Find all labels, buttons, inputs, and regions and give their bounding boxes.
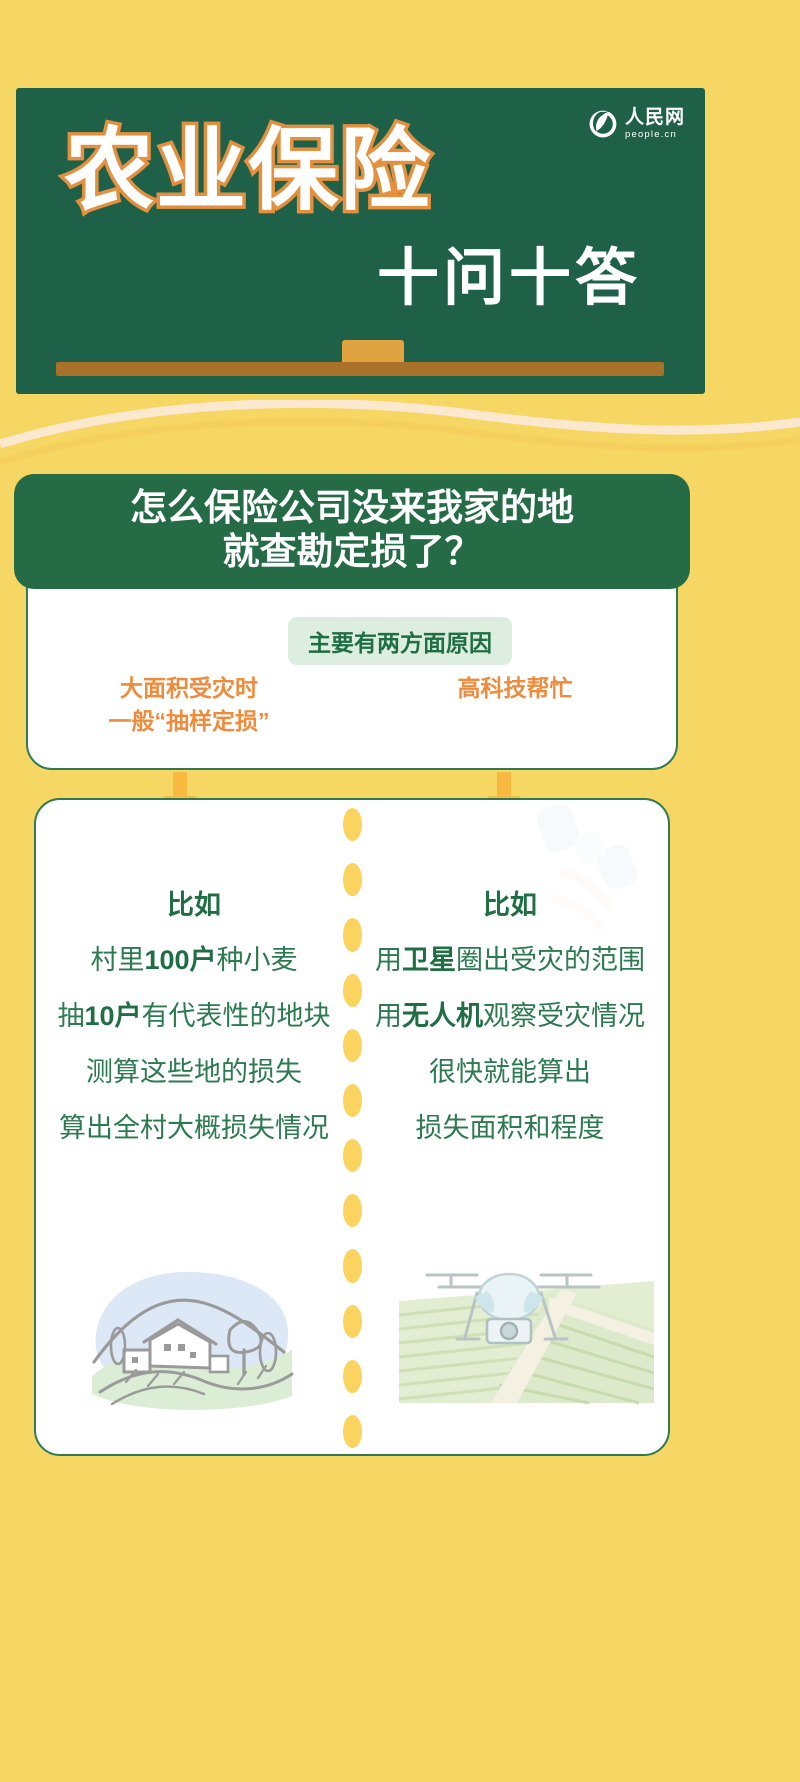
reason-1-line-2: 一般“抽样定损” bbox=[26, 705, 352, 738]
logo-text-cn: 人民网 bbox=[625, 108, 685, 127]
example-label-left: 比如 bbox=[36, 892, 352, 919]
answer-line-right-3: 很快就能算出 bbox=[352, 1059, 668, 1086]
chalk-tray bbox=[56, 362, 664, 376]
infographic-page: 人民网 people.cn 农业保险 十问十答 怎么保险公司没来我家的地 就查勘… bbox=[0, 0, 800, 1782]
answer-keyword: 卫星 bbox=[402, 945, 456, 975]
page-title: 农业保险 bbox=[64, 126, 432, 216]
page-subtitle: 十问十答 bbox=[377, 248, 641, 310]
answer-keyword: 无人机 bbox=[402, 1001, 483, 1031]
answer-line-left-3: 测算这些地的损失 bbox=[36, 1059, 352, 1086]
answer-line-right-2: 用无人机观察受灾情况 bbox=[352, 1003, 668, 1030]
village-farmland-illustration bbox=[78, 1258, 308, 1428]
answer-text: 损失面积和程度 bbox=[416, 1113, 605, 1143]
answer-text: 有代表性的地块 bbox=[142, 1001, 331, 1031]
answer-card: 比如 村里100户种小麦 抽10户有代表性的地块 测算这些地的损失 算出全村大概… bbox=[34, 798, 670, 1456]
answer-text: 用 bbox=[375, 945, 402, 975]
answer-text: 种小麦 bbox=[217, 945, 298, 975]
reason-columns: 大面积受灾时 一般“抽样定损” 高科技帮忙 bbox=[26, 672, 678, 737]
answer-column-technology: 比如 用卫星圈出受灾的范围 用无人机观察受灾情况 很快就能算出 损失面积和程度 bbox=[352, 800, 668, 1454]
answer-text: 用 bbox=[375, 1001, 402, 1031]
answer-text: 观察受灾情况 bbox=[483, 1001, 645, 1031]
reason-pill: 主要有两方面原因 bbox=[288, 617, 512, 665]
answer-columns: 比如 村里100户种小麦 抽10户有代表性的地块 测算这些地的损失 算出全村大概… bbox=[36, 800, 668, 1454]
people-daily-globe-icon bbox=[588, 109, 618, 139]
question-banner: 怎么保险公司没来我家的地 就查勘定损了？ bbox=[14, 474, 690, 589]
reason-column-technology: 高科技帮忙 bbox=[352, 672, 678, 737]
example-label-right: 比如 bbox=[352, 892, 668, 919]
header-blackboard: 人民网 people.cn 农业保险 十问十答 bbox=[16, 88, 705, 394]
reason-1-line-1: 大面积受灾时 bbox=[26, 672, 352, 705]
answer-text: 圈出受灾的范围 bbox=[456, 945, 645, 975]
answer-line-left-4: 算出全村大概损失情况 bbox=[36, 1115, 352, 1142]
answer-line-left-1: 村里100户种小麦 bbox=[36, 947, 352, 974]
question-line-1: 怎么保险公司没来我家的地 bbox=[22, 486, 682, 530]
answer-text: 算出全村大概损失情况 bbox=[59, 1113, 329, 1143]
question-line-2: 就查勘定损了？ bbox=[22, 530, 682, 574]
chalk-block bbox=[342, 340, 404, 362]
answer-line-left-2: 抽10户有代表性的地块 bbox=[36, 1003, 352, 1030]
answer-text: 很快就能算出 bbox=[429, 1057, 591, 1087]
answer-column-sampling: 比如 村里100户种小麦 抽10户有代表性的地块 测算这些地的损失 算出全村大概… bbox=[36, 800, 352, 1454]
answer-text: 抽 bbox=[57, 1001, 84, 1031]
logo-text-en: people.cn bbox=[625, 130, 685, 140]
answer-text: 测算这些地的损失 bbox=[86, 1057, 302, 1087]
site-logo[interactable]: 人民网 people.cn bbox=[588, 108, 685, 140]
answer-text: 村里 bbox=[90, 945, 144, 975]
answer-line-right-4: 损失面积和程度 bbox=[352, 1115, 668, 1142]
answer-keyword: 100户 bbox=[144, 945, 216, 975]
reason-column-sampling: 大面积受灾时 一般“抽样定损” bbox=[26, 672, 352, 737]
answer-line-right-1: 用卫星圈出受灾的范围 bbox=[352, 947, 668, 974]
answer-keyword: 10户 bbox=[84, 1001, 141, 1031]
reason-2-line-1: 高科技帮忙 bbox=[352, 672, 678, 705]
drone-over-field-illustration bbox=[399, 1253, 654, 1428]
